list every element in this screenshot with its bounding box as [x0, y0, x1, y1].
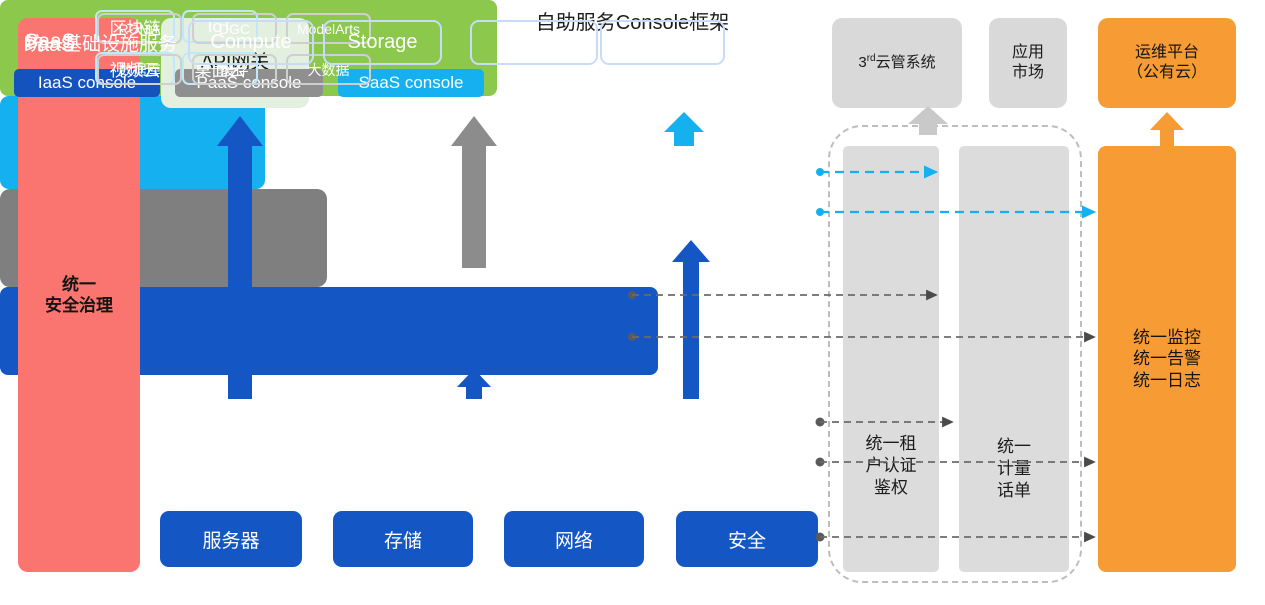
third-party-sup: rd — [867, 53, 876, 64]
infra-chip-cce[interactable]: CCE — [600, 20, 725, 65]
architecture-diagram: 统一安全治理 API网关 自助服务Console框架 IaaS console … — [0, 0, 1265, 605]
infrastructure-label: 统一基础设施服务 — [14, 29, 188, 56]
security-panel: 统一安全治理 — [18, 18, 140, 572]
arrow-paas-to-console — [451, 116, 497, 268]
infra-chip-storage[interactable]: Storage — [323, 20, 442, 65]
unified-tenant-auth-label: 统一租户认证鉴权 — [843, 433, 939, 499]
security-panel-label: 统一安全治理 — [45, 274, 113, 317]
ops-monitoring-panel: 统一监控统一告警统一日志 — [1098, 146, 1236, 572]
resource-box-network: 网络 — [504, 511, 644, 567]
infra-chip-network[interactable]: Network — [470, 20, 598, 65]
resource-box-security: 安全 — [676, 511, 818, 567]
third-party-cloud-mgmt-box: 3rd云管系统 — [832, 18, 962, 108]
unified-tenant-auth-column: 统一租户认证鉴权 — [843, 146, 939, 572]
saas-console-label: SaaS console — [359, 73, 464, 93]
resource-box-server: 服务器 — [160, 511, 302, 567]
third-party-main: 云管系统 — [876, 54, 936, 71]
paas-chip-database[interactable]: 数据库 — [97, 54, 182, 85]
third-party-num: 3 — [858, 54, 866, 71]
resource-box-storage: 存储 — [333, 511, 473, 567]
arrow-ops-panel-to-platform — [1150, 112, 1184, 146]
app-market-box: 应用市场 — [989, 18, 1067, 108]
ops-panel-label: 统一监控统一告警统一日志 — [1133, 327, 1201, 391]
ops-platform-label: 运维平台（公有云） — [1127, 43, 1207, 83]
infra-chip-compute[interactable]: Compute — [188, 20, 314, 65]
arrow-saas-to-console — [664, 112, 704, 146]
third-party-label: 3rd云管系统 — [858, 53, 935, 73]
unified-metering-column: 统一计量话单 — [959, 146, 1069, 572]
ops-platform-box: 运维平台（公有云） — [1098, 18, 1236, 108]
app-market-label: 应用市场 — [1012, 43, 1044, 83]
unified-metering-label: 统一计量话单 — [959, 436, 1069, 502]
arrow-infra-to-saas — [672, 240, 710, 399]
